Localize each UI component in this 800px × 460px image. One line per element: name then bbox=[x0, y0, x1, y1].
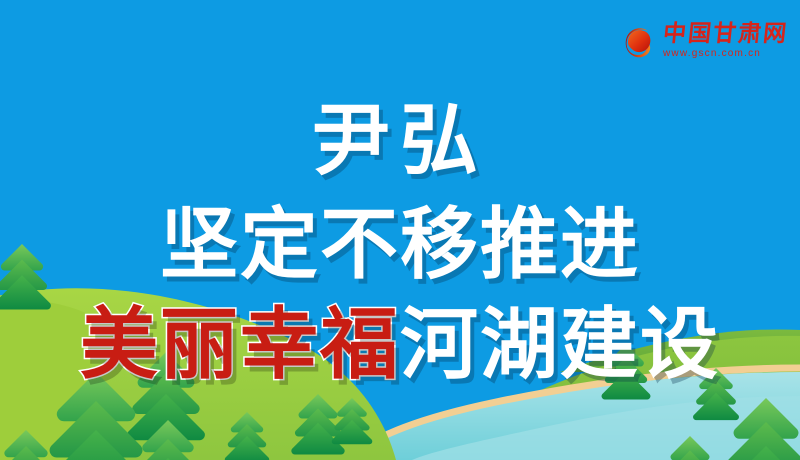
headline-line-3-red: 美丽幸福 bbox=[80, 300, 400, 390]
headline-line-1: 尹弘 bbox=[0, 78, 800, 190]
headline-line-3: 美丽幸福河湖建设 bbox=[0, 282, 800, 394]
logo-url: www.gscn.com.cn bbox=[663, 49, 761, 59]
poster-canvas: 尹弘 坚定不移推进 美丽幸福河湖建设 bbox=[0, 0, 800, 460]
site-logo[interactable]: 中国甘肃网 www.gscn.com.cn bbox=[622, 22, 788, 60]
headline-line-2: 坚定不移推进 bbox=[0, 182, 800, 294]
logo-text-block: 中国甘肃网 www.gscn.com.cn bbox=[663, 23, 788, 59]
headline-line-3-white: 河湖建设 bbox=[400, 300, 720, 390]
flame-swoosh-icon bbox=[622, 22, 658, 60]
logo-brand-name: 中国甘肃网 bbox=[662, 23, 789, 46]
